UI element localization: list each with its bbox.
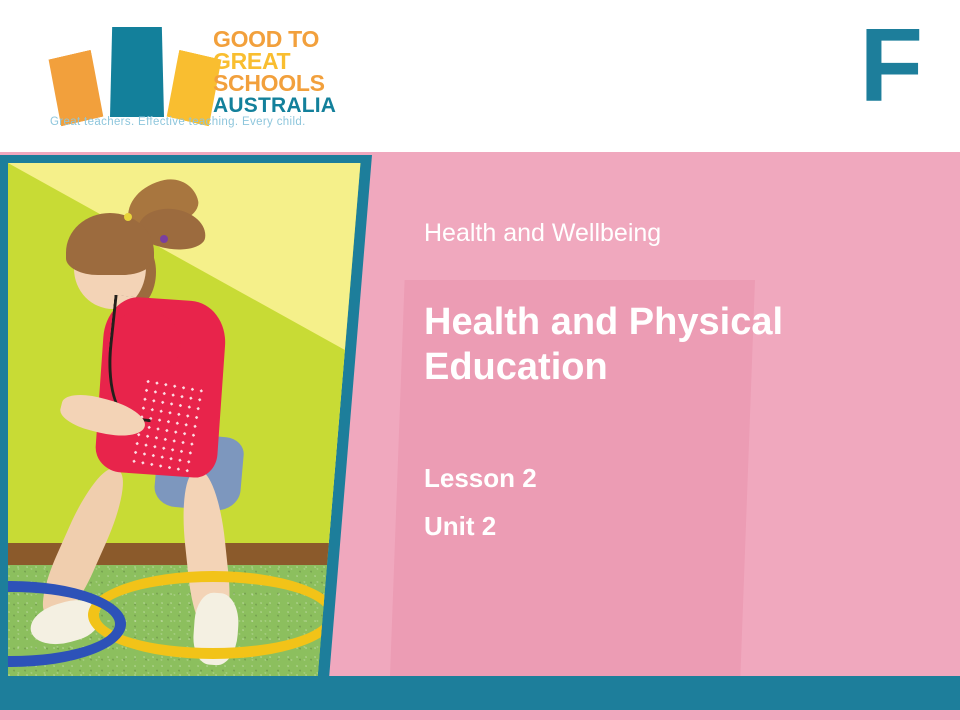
logo-book-left-icon	[46, 50, 106, 127]
page-title: Health and Physical Education	[424, 248, 894, 390]
cover-photo	[8, 163, 364, 676]
footer-accent-strip	[0, 710, 960, 720]
logo-line-3: SCHOOLS	[213, 72, 336, 94]
photo-hair-tie-yellow	[124, 213, 132, 221]
logo-line-2: GREAT	[213, 50, 336, 72]
lesson-label: Lesson 2	[424, 390, 894, 494]
logo-line-4: AUSTRALIA	[213, 96, 336, 116]
subject-strand-label: Health and Wellbeing	[424, 218, 894, 248]
slide-header: GOOD TO GREAT SCHOOLS AUSTRALIA Great te…	[0, 0, 960, 155]
slide: GOOD TO GREAT SCHOOLS AUSTRALIA Great te…	[0, 0, 960, 720]
grade-level-letter: F	[859, 14, 922, 118]
unit-label: Unit 2	[424, 494, 894, 542]
photo-hula-hoop-yellow	[88, 571, 338, 659]
slide-footer-bar: oz e l e a r n	[0, 676, 960, 710]
logo-book-center-icon	[110, 27, 164, 117]
logo-wordmark: GOOD TO GREAT SCHOOLS AUSTRALIA	[213, 28, 336, 116]
photo-hair-tie-purple	[160, 235, 168, 243]
good-to-great-schools-logo-mark	[60, 26, 210, 122]
logo-line-1: GOOD TO	[213, 28, 336, 50]
logo-tagline: Great teachers. Effective teaching. Ever…	[50, 116, 306, 128]
title-text-block: Health and Wellbeing Health and Physical…	[424, 218, 894, 541]
